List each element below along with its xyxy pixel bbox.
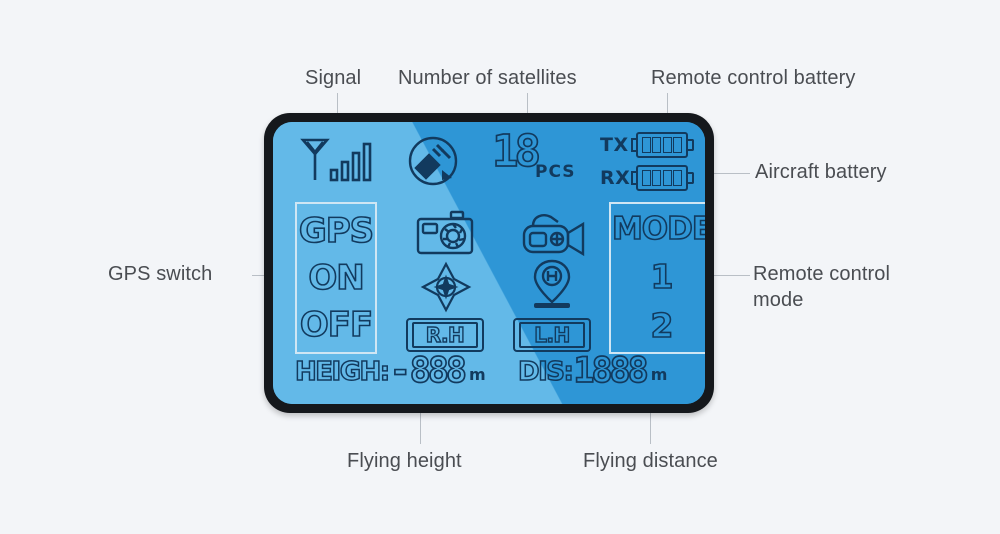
right-hand-stick-mode-box[interactable]: R.H [406, 318, 484, 352]
remote-control-battery-indicator: TX [600, 132, 694, 158]
battery-body-rx [636, 165, 688, 191]
rx-label: RX [600, 167, 630, 189]
satellite-count-display: 18 [491, 130, 538, 174]
mode-option-1[interactable]: 1 [651, 260, 674, 293]
lcd-telemetry-row: HEIGH: - 888 m DIS: 1888 m [273, 352, 705, 398]
leader-line-flying-height [420, 412, 421, 444]
height-value: 888 [410, 354, 464, 389]
battery-bar [673, 170, 682, 186]
distance-label: DIS: [518, 359, 572, 385]
video-camera-icon [521, 210, 587, 256]
lcd-status-row: 18 PCS TX [273, 126, 705, 200]
callout-label-signal: Signal [305, 66, 361, 92]
gps-off-option[interactable]: OFF [300, 308, 372, 342]
gps-switch-panel[interactable]: GPS ON OFF [295, 202, 377, 354]
height-label: HEIGH: [295, 359, 389, 385]
callout-label-flying-distance: Flying distance [583, 449, 718, 475]
tx-label: TX [600, 134, 630, 156]
leader-line-flying-distance [650, 412, 651, 444]
battery-body-tx [636, 132, 688, 158]
distance-value: 1888 [573, 354, 645, 389]
callout-label-number-of-satellites: Number of satellites [398, 66, 577, 92]
remote-control-mode-panel[interactable]: MODE 1 2 [609, 202, 705, 354]
battery-icon-tx [636, 132, 694, 158]
satellite-count-value: 18 [492, 126, 537, 177]
right-hand-label: R.H [426, 325, 465, 345]
aircraft-battery-indicator: RX [600, 165, 694, 191]
callout-label-flying-height: Flying height [347, 449, 462, 475]
battery-bar [652, 170, 661, 186]
battery-icon-rx [636, 165, 694, 191]
home-point-icon [529, 258, 575, 312]
battery-bar [652, 137, 661, 153]
battery-bar [663, 170, 672, 186]
mode-title: MODE [612, 214, 705, 245]
battery-bar [673, 137, 682, 153]
height-sign: - [390, 354, 408, 389]
mode-option-2[interactable]: 2 [651, 309, 674, 342]
distance-unit-label: m [651, 365, 668, 389]
compass-icon [421, 262, 471, 312]
signal-bars-icon [297, 134, 371, 186]
height-unit-label: m [469, 365, 486, 389]
left-hand-stick-mode-box[interactable]: L.H [513, 318, 591, 352]
battery-bar [642, 170, 651, 186]
battery-cap-rx [688, 172, 694, 184]
satellite-unit-label: PCS [535, 162, 576, 182]
callout-label-remote-control-mode: Remote control mode [753, 262, 890, 313]
camera-icon [415, 210, 475, 256]
battery-cap-tx [688, 139, 694, 151]
satellite-icon [406, 134, 460, 188]
lcd-display-device: 18 PCS TX [264, 113, 714, 413]
leader-line-remote-control-mode [712, 275, 750, 276]
left-hand-label: L.H [534, 325, 570, 345]
gps-on-option[interactable]: ON [308, 261, 363, 295]
right-hand-inner-frame: R.H [412, 322, 478, 348]
left-hand-inner-frame: L.H [519, 322, 585, 348]
flying-distance-readout: DIS: 1888 m [518, 354, 667, 389]
gps-title: GPS [299, 214, 373, 248]
callout-label-remote-control-battery: Remote control battery [651, 66, 856, 92]
lcd-screen: 18 PCS TX [273, 122, 705, 404]
battery-bar [642, 137, 651, 153]
flying-height-readout: HEIGH: - 888 m [295, 354, 486, 389]
callout-label-gps-switch: GPS switch [108, 262, 212, 288]
battery-bar [663, 137, 672, 153]
callout-label-aircraft-battery: Aircraft battery [755, 160, 887, 186]
